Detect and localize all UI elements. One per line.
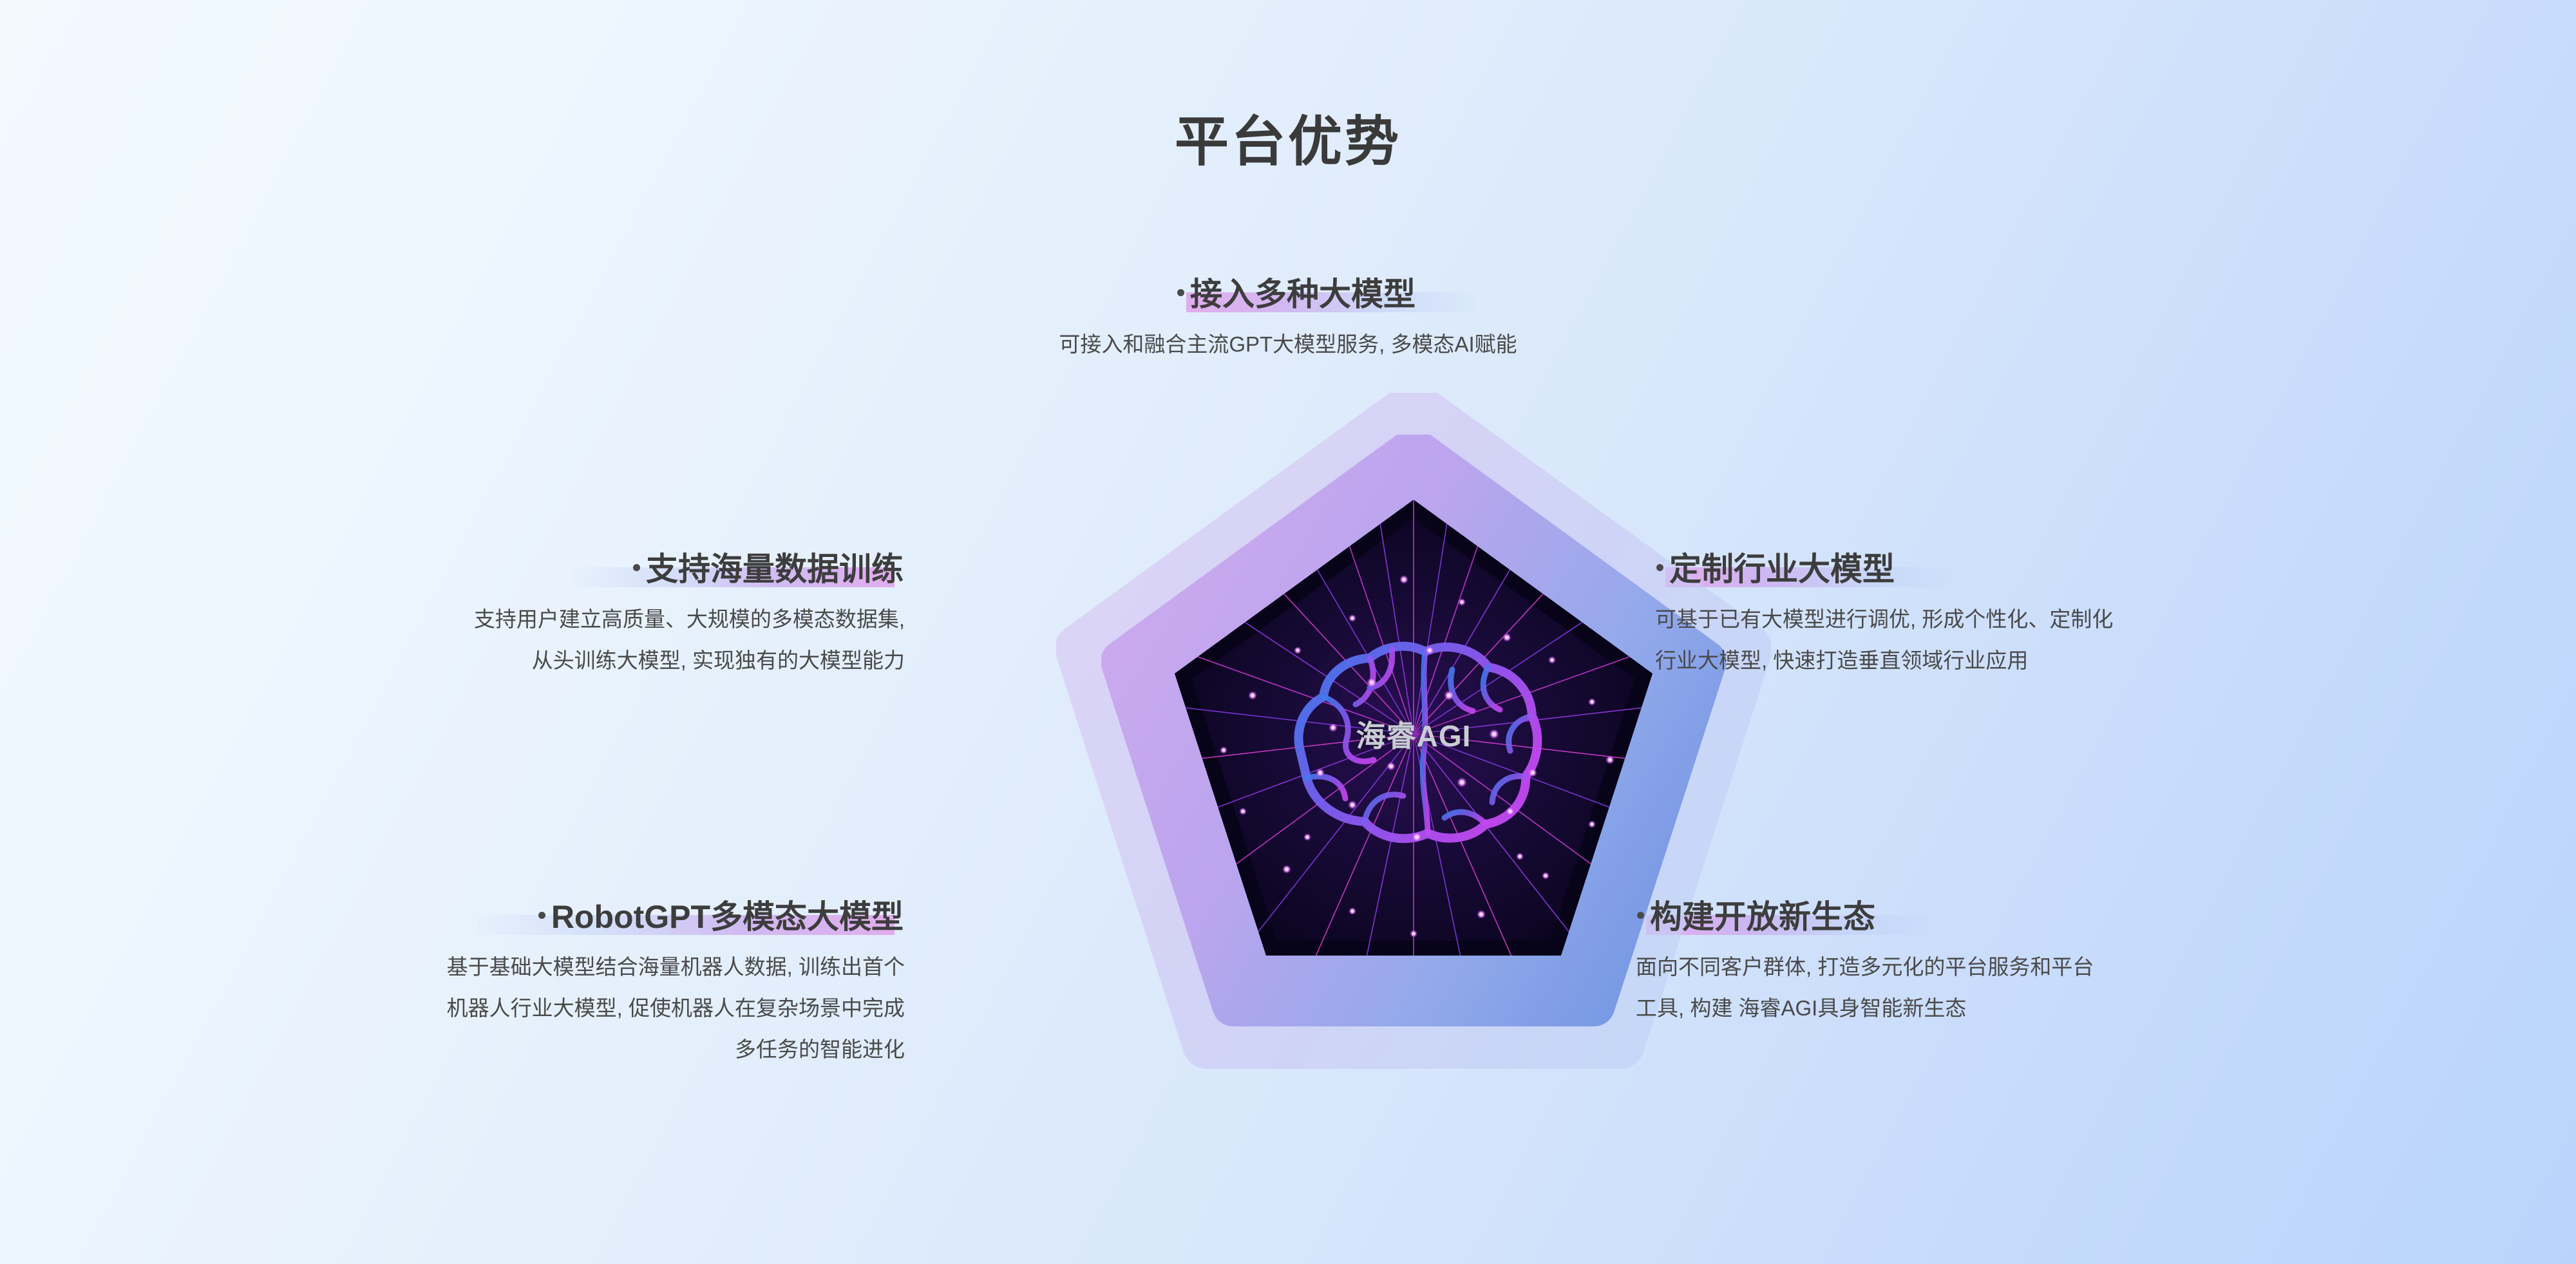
feature-right-top-title: 定制行业大模型 <box>1655 551 1896 589</box>
feature-left-bottom: RobotGPT多模态大模型 基于基础大模型结合海量机器人数据, 训练出首个 机… <box>77 898 905 1070</box>
feature-left-top-title-text: 支持海量数据训练 <box>646 551 904 587</box>
desc-line: 多任务的智能进化 <box>77 1029 905 1070</box>
bullet-dot-icon <box>1637 912 1644 919</box>
feature-right-bottom-desc: 面向不同客户群体, 打造多元化的平台服务和平台 工具, 构建 海睿AGI具身智能… <box>1636 947 2473 1029</box>
feature-left-bottom-title-text: RobotGPT多模态大模型 <box>551 899 904 935</box>
feature-left-bottom-title: RobotGPT多模态大模型 <box>537 898 905 936</box>
desc-line: 面向不同客户群体, 打造多元化的平台服务和平台 <box>1636 947 2473 988</box>
page-title: 平台优势 <box>0 115 2576 169</box>
feature-top-title-text: 接入多种大模型 <box>1190 276 1416 312</box>
desc-line: 基于基础大模型结合海量机器人数据, 训练出首个 <box>77 947 905 988</box>
bullet-dot-icon <box>1656 564 1663 571</box>
desc-line: 从头训练大模型, 实现独有的大模型能力 <box>90 640 905 681</box>
bullet-dot-icon <box>633 564 640 571</box>
bullet-dot-icon <box>1177 289 1184 296</box>
feature-right-bottom: 构建开放新生态 面向不同客户群体, 打造多元化的平台服务和平台 工具, 构建 海… <box>1636 898 2473 1029</box>
feature-right-top-desc: 可基于已有大模型进行调优, 形成个性化、定制化 行业大模型, 快速打造垂直领域行… <box>1655 599 2486 681</box>
desc-line: 机器人行业大模型, 促使机器人在复杂场景中完成 <box>77 988 905 1029</box>
feature-top: 接入多种大模型 可接入和融合主流GPT大模型服务, 多模态AI赋能 <box>873 276 1703 365</box>
feature-right-bottom-title: 构建开放新生态 <box>1636 898 1877 936</box>
feature-top-title: 接入多种大模型 <box>1176 276 1417 314</box>
feature-top-desc: 可接入和融合主流GPT大模型服务, 多模态AI赋能 <box>873 324 1703 365</box>
feature-right-top-title-text: 定制行业大模型 <box>1669 551 1895 587</box>
center-brand-label: 海睿AGI <box>1056 713 1771 755</box>
desc-line: 支持用户建立高质量、大规模的多模态数据集, <box>90 599 905 640</box>
feature-right-bottom-title-text: 构建开放新生态 <box>1650 899 1875 935</box>
feature-right-top: 定制行业大模型 可基于已有大模型进行调优, 形成个性化、定制化 行业大模型, 快… <box>1655 551 2486 681</box>
desc-line: 工具, 构建 海睿AGI具身智能新生态 <box>1636 988 2473 1029</box>
feature-left-bottom-desc: 基于基础大模型结合海量机器人数据, 训练出首个 机器人行业大模型, 促使机器人在… <box>77 947 905 1070</box>
desc-line: 行业大模型, 快速打造垂直领域行业应用 <box>1655 640 2486 681</box>
desc-line: 可基于已有大模型进行调优, 形成个性化、定制化 <box>1655 599 2486 640</box>
feature-left-top-desc: 支持用户建立高质量、大规模的多模态数据集, 从头训练大模型, 实现独有的大模型能… <box>90 599 905 681</box>
desc-line: 可接入和融合主流GPT大模型服务, 多模态AI赋能 <box>873 324 1703 365</box>
bullet-dot-icon <box>538 912 545 919</box>
feature-left-top: 支持海量数据训练 支持用户建立高质量、大规模的多模态数据集, 从头训练大模型, … <box>90 551 905 681</box>
feature-left-top-title: 支持海量数据训练 <box>632 551 905 589</box>
